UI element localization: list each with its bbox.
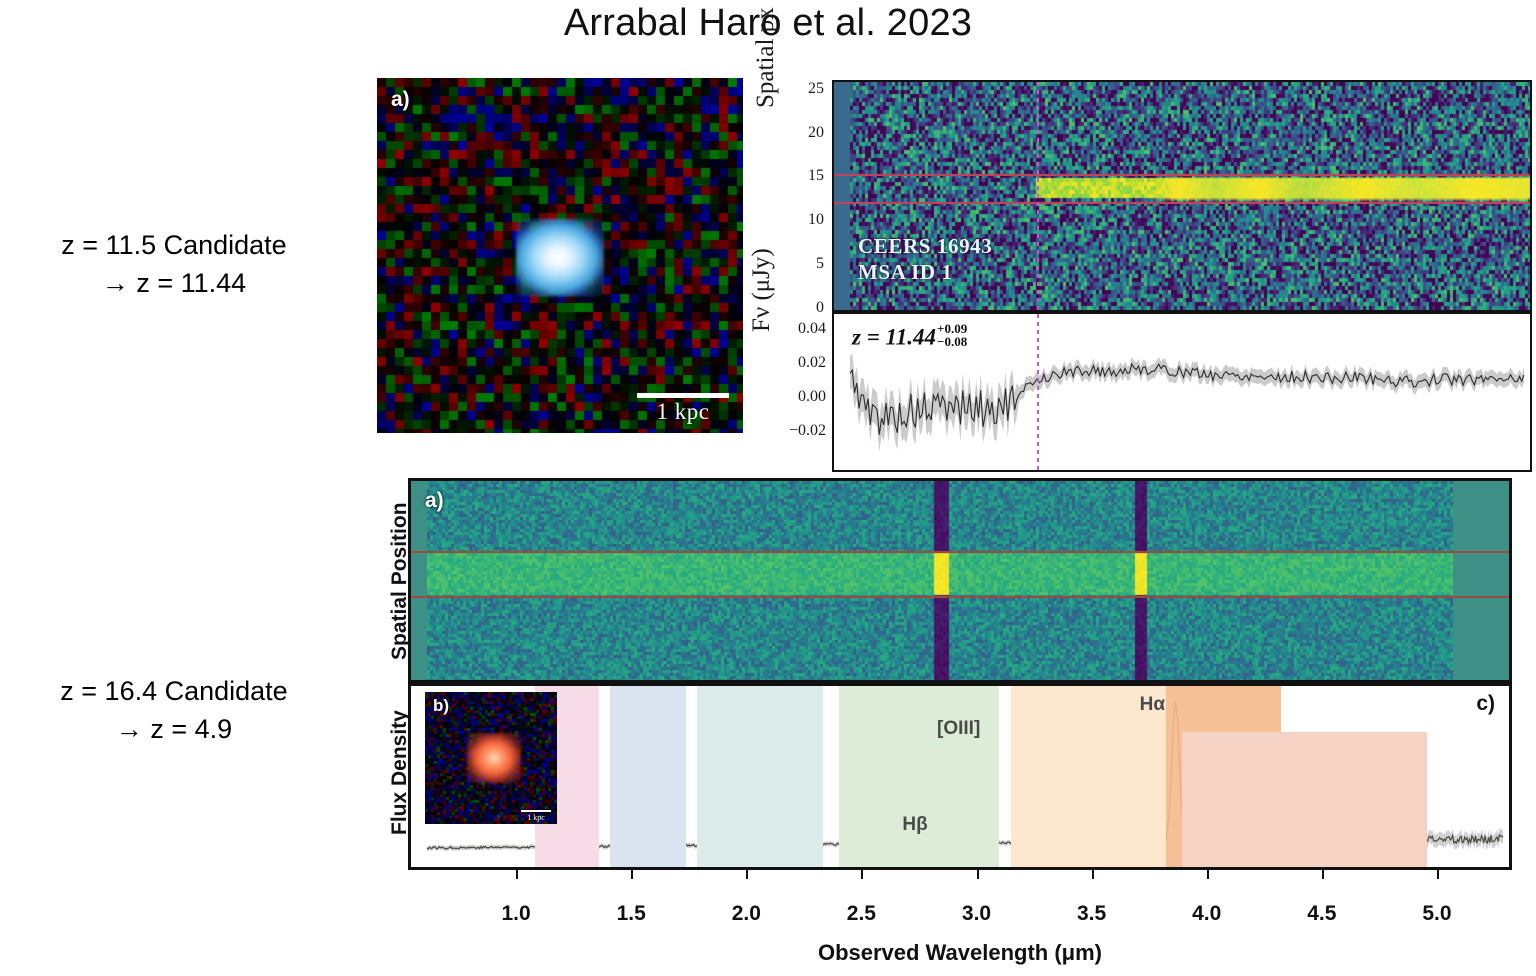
filter-band-3: [839, 686, 999, 867]
ytick-fnu--0.02: −0.02: [770, 422, 826, 440]
panel-label-b: b): [433, 696, 449, 716]
xtick-obs-2: 2.0: [732, 902, 761, 926]
ytick-spatial-25: 25: [782, 80, 824, 98]
axis-label-observed-wavelength: Observed Wavelength (μm): [408, 940, 1512, 966]
filter-band-6: [1182, 732, 1427, 867]
xtick-obs-4.5: 4.5: [1307, 902, 1336, 926]
top-figure: a) 1 kpc Spatial px 0510152025 CEERS 169…: [0, 70, 1536, 470]
tickmark-5: [1437, 870, 1439, 879]
tickmark-2.5: [861, 870, 863, 879]
extraction-line-lower-bottom: [411, 596, 1509, 598]
scalebar-inset: 1 kpc: [521, 810, 551, 822]
tickmark-1: [516, 870, 518, 879]
xtick-obs-1: 1.0: [501, 902, 530, 926]
viridis-heatmap-bottom: [427, 481, 1453, 680]
extraction-line-lower: [834, 202, 1530, 204]
continuum-trace-top: [1154, 178, 1530, 200]
redshift-value: z = 11.44: [852, 324, 936, 349]
scalebar-label: 1 kpc: [637, 399, 729, 425]
ytick-fnu-0.04: 0.04: [770, 320, 826, 338]
tickmark-3.5: [1092, 870, 1094, 879]
extraction-line-upper: [834, 174, 1530, 176]
panel-label-a-top: a): [391, 88, 410, 112]
tickmark-3: [977, 870, 979, 879]
panel-label-a-bottom: a): [425, 489, 444, 513]
spectrum-2d-top: CEERS 16943 MSA ID 1: [832, 80, 1532, 312]
lyman-break-marker-2d: [1037, 82, 1039, 310]
spectrum-2d-bottom: a): [408, 478, 1512, 683]
emission-label-halpha: Hα: [1140, 694, 1165, 716]
ytick-spatial-5: 5: [782, 255, 824, 273]
ytick-spatial-0: 0: [782, 299, 824, 317]
ytick-spatial-20: 20: [782, 124, 824, 142]
xtick-obs-3.5: 3.5: [1077, 902, 1106, 926]
filter-band-1: [610, 686, 686, 867]
filter-band-2: [697, 686, 823, 867]
ytick-spatial-15: 15: [782, 167, 824, 185]
xtick-obs-1.5: 1.5: [617, 902, 646, 926]
axis-label-spatial-px: Spatial px: [752, 7, 780, 108]
redshift-annotation: z = 11.44+0.09−0.08: [852, 322, 967, 350]
bottom-figure: Spatial Position Flux Density a) b) 1 kp…: [0, 470, 1536, 976]
xtick-obs-5: 5.0: [1422, 902, 1451, 926]
galaxy-core-red: [467, 733, 521, 783]
scalebar-line: [637, 393, 729, 398]
tickmark-1.5: [631, 870, 633, 879]
xtick-obs-4: 4.0: [1192, 902, 1221, 926]
object-id-msa: MSA ID 1: [858, 260, 953, 285]
scalebar-line-inset: [521, 810, 551, 812]
redshift-err-up: +0.09: [937, 322, 967, 335]
xtick-obs-3: 3.0: [962, 902, 991, 926]
scalebar-label-inset: 1 kpc: [521, 813, 551, 822]
xtick-obs-2.5: 2.5: [847, 902, 876, 926]
tickmark-4.5: [1322, 870, 1324, 879]
tickmark-4: [1207, 870, 1209, 879]
galaxy-core-blue: [516, 218, 604, 296]
panel-label-c: c): [1476, 692, 1495, 716]
ytick-fnu-0: 0.00: [770, 388, 826, 406]
emission-label-oiii: [OIII]: [937, 718, 980, 740]
tickmark-2: [746, 870, 748, 879]
rgb-cutout-panel-a: a) 1 kpc: [377, 78, 743, 433]
scalebar-top: 1 kpc: [637, 393, 729, 425]
rgb-cutout-inset-b: b) 1 kpc: [425, 692, 557, 824]
ytick-fnu-0.02: 0.02: [770, 354, 826, 372]
lyman-break-marker-1d: [1037, 314, 1039, 470]
object-id-ceers: CEERS 16943: [858, 234, 992, 259]
extraction-line-upper-bottom: [411, 551, 1509, 553]
ytick-spatial-10: 10: [782, 211, 824, 229]
emission-label-hbeta: Hβ: [902, 814, 927, 836]
spectrum-1d-bottom: b) 1 kpc Hβ [OIII] Hα c): [408, 683, 1512, 870]
redshift-err-down: −0.08: [937, 335, 967, 348]
